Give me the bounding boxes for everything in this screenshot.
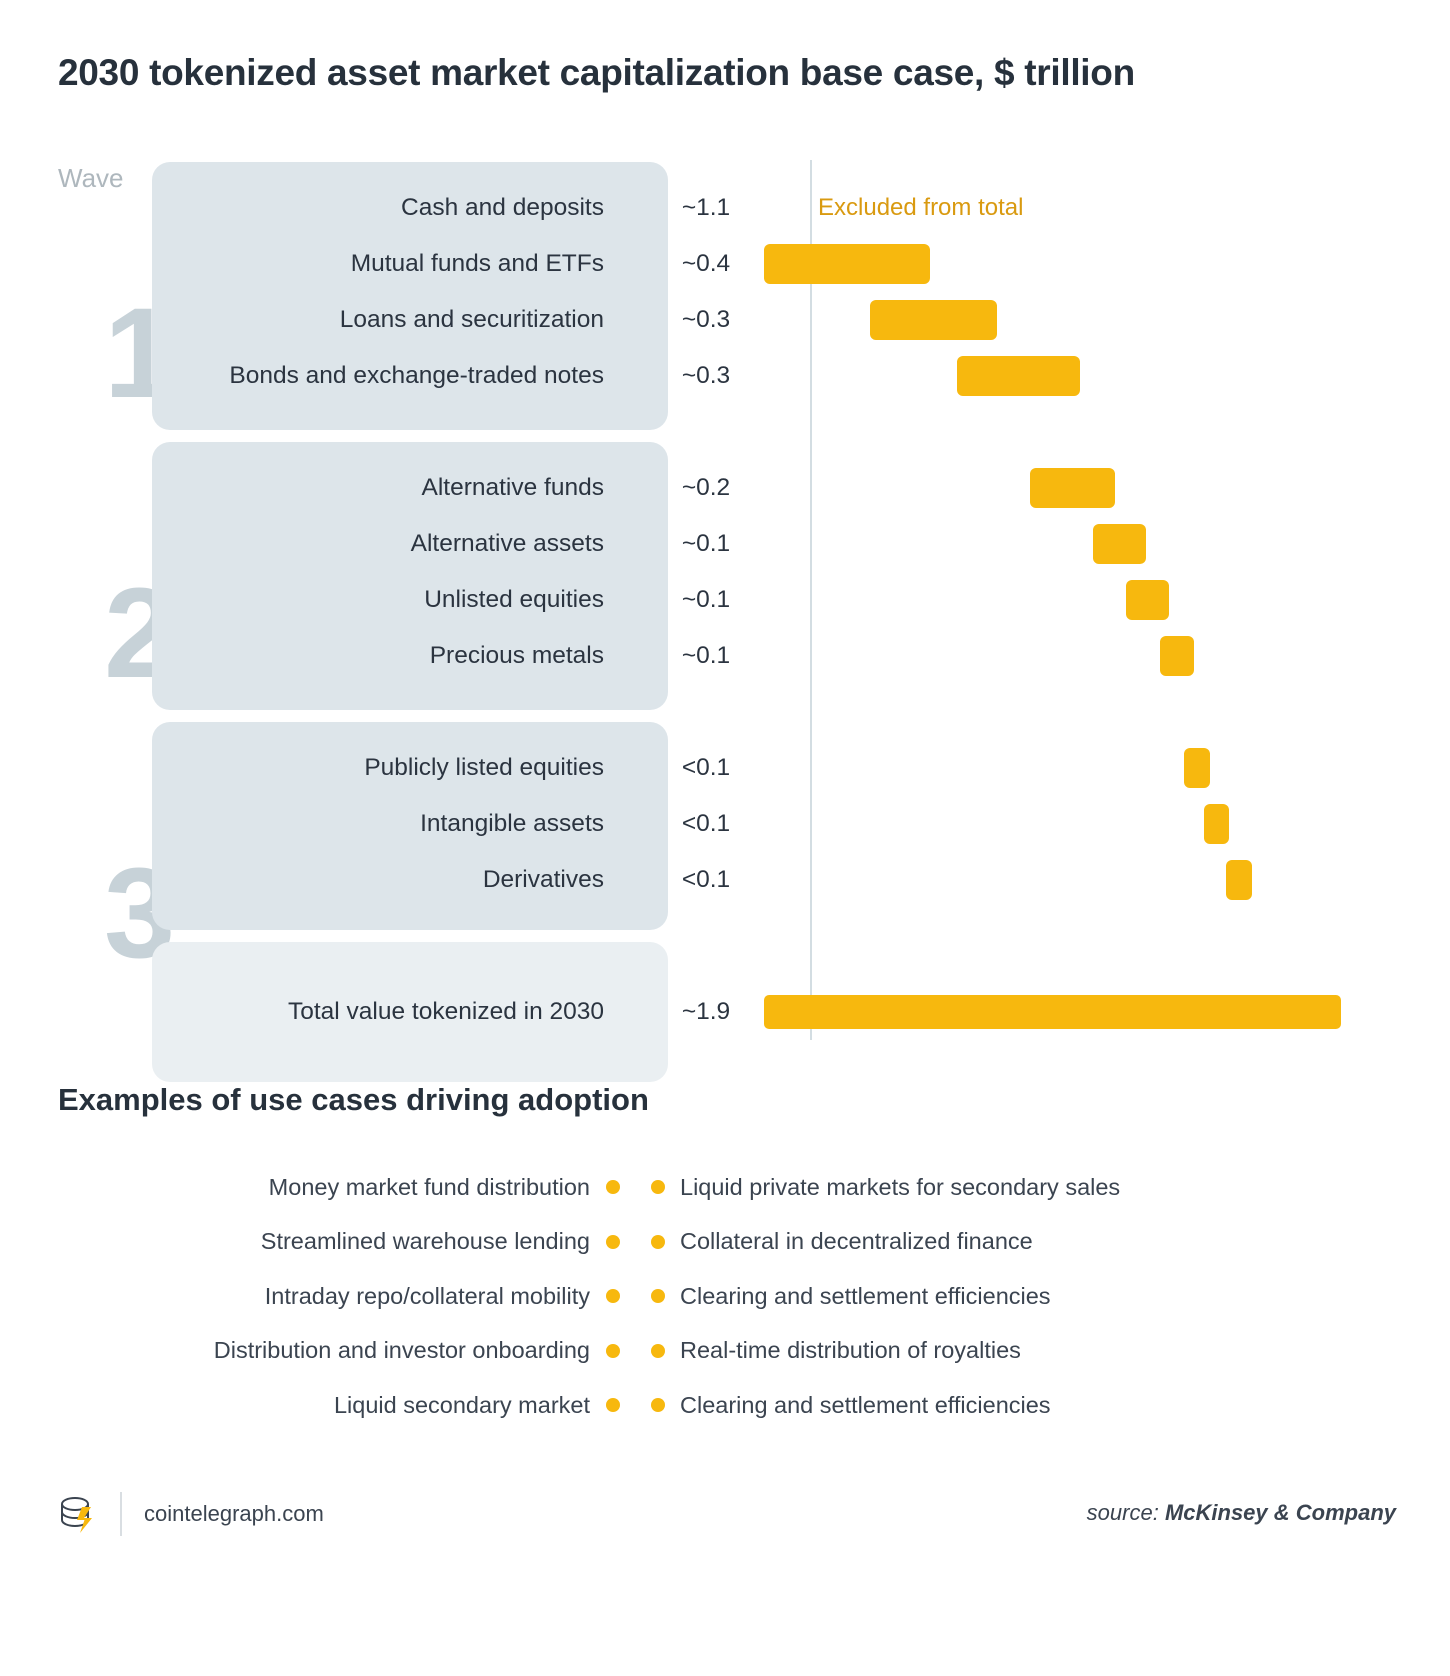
row-value: <0.1 bbox=[648, 754, 764, 782]
row-plot-area bbox=[764, 740, 1450, 796]
row-label: Loans and securitization bbox=[0, 306, 648, 334]
use-case-left-label: Money market fund distribution bbox=[0, 1174, 590, 1201]
excluded-from-total-note: Excluded from total bbox=[818, 194, 1023, 222]
row-plot-area bbox=[764, 852, 1450, 908]
use-cases-heading: Examples of use cases driving adoption bbox=[58, 1082, 649, 1118]
chart-row: Mutual funds and ETFs~0.4 bbox=[0, 236, 1450, 292]
row-label: Precious metals bbox=[0, 642, 648, 670]
bullet-dot-icon bbox=[606, 1235, 620, 1249]
row-value: ~0.1 bbox=[648, 530, 764, 558]
row-label: Intangible assets bbox=[0, 810, 648, 838]
waterfall-chart: Wave 1 2 3 Excluded from total Cash and … bbox=[0, 150, 1450, 1040]
row-value: ~1.9 bbox=[648, 998, 764, 1026]
row-label: Publicly listed equities bbox=[0, 754, 648, 782]
row-value: ~0.1 bbox=[648, 586, 764, 614]
row-plot-area bbox=[764, 628, 1450, 684]
chart-row: Total value tokenized in 2030~1.9 bbox=[0, 984, 1450, 1040]
use-case-right-label: Clearing and settlement efficiencies bbox=[680, 1283, 1450, 1310]
bullet-dot-icon bbox=[606, 1289, 620, 1303]
row-label: Cash and deposits bbox=[0, 194, 648, 222]
row-plot-area bbox=[764, 460, 1450, 516]
row-plot-area bbox=[764, 572, 1450, 628]
row-label: Mutual funds and ETFs bbox=[0, 250, 648, 278]
page-title: 2030 tokenized asset market capitalizati… bbox=[58, 52, 1398, 94]
row-value: ~0.4 bbox=[648, 250, 764, 278]
bullet-dot-icon bbox=[606, 1398, 620, 1412]
bullet-dot-icon bbox=[651, 1289, 665, 1303]
row-value: ~0.3 bbox=[648, 362, 764, 390]
use-case-left-label: Streamlined warehouse lending bbox=[0, 1228, 590, 1255]
use-case-row: Distribution and investor onboardingReal… bbox=[0, 1324, 1450, 1379]
row-label: Total value tokenized in 2030 bbox=[0, 998, 648, 1026]
row-plot-area bbox=[764, 292, 1450, 348]
chart-row: Alternative assets~0.1 bbox=[0, 516, 1450, 572]
chart-row: Derivatives<0.1 bbox=[0, 852, 1450, 908]
use-case-row: Money market fund distributionLiquid pri… bbox=[0, 1160, 1450, 1215]
use-case-right-label: Liquid private markets for secondary sal… bbox=[680, 1174, 1450, 1201]
waterfall-bar bbox=[764, 244, 930, 284]
chart-row: Loans and securitization~0.3 bbox=[0, 292, 1450, 348]
use-case-right-dot-cell bbox=[636, 1235, 680, 1249]
row-label: Bonds and exchange-traded notes bbox=[0, 362, 648, 390]
use-case-right-dot-cell bbox=[636, 1344, 680, 1358]
cointelegraph-coin-logo-icon bbox=[58, 1493, 98, 1535]
use-case-row: Streamlined warehouse lendingCollateral … bbox=[0, 1215, 1450, 1270]
row-value: <0.1 bbox=[648, 810, 764, 838]
footer: cointelegraph.com source: McKinsey & Com… bbox=[0, 1470, 1450, 1580]
row-value: ~1.1 bbox=[648, 194, 764, 222]
use-case-left-dot-cell bbox=[590, 1180, 636, 1194]
source-name: McKinsey & Company bbox=[1165, 1500, 1396, 1525]
waterfall-bar bbox=[764, 995, 1341, 1029]
infographic-page: 2030 tokenized asset market capitalizati… bbox=[0, 0, 1450, 1676]
use-case-right-dot-cell bbox=[636, 1398, 680, 1412]
use-case-left-label: Intraday repo/collateral mobility bbox=[0, 1283, 590, 1310]
use-case-left-dot-cell bbox=[590, 1344, 636, 1358]
source-credit: source: McKinsey & Company bbox=[1087, 1500, 1396, 1526]
use-case-right-label: Real-time distribution of royalties bbox=[680, 1337, 1450, 1364]
row-label: Alternative funds bbox=[0, 474, 648, 502]
use-case-right-label: Clearing and settlement efficiencies bbox=[680, 1392, 1450, 1419]
waterfall-bar bbox=[957, 356, 1080, 396]
waterfall-bar bbox=[1160, 636, 1194, 676]
use-case-right-dot-cell bbox=[636, 1180, 680, 1194]
bullet-dot-icon bbox=[651, 1235, 665, 1249]
use-case-row: Liquid secondary marketClearing and sett… bbox=[0, 1378, 1450, 1433]
use-case-row: Intraday repo/collateral mobilityClearin… bbox=[0, 1269, 1450, 1324]
row-plot-area bbox=[764, 984, 1450, 1040]
waterfall-bar bbox=[1226, 860, 1252, 900]
row-label: Unlisted equities bbox=[0, 586, 648, 614]
use-case-left-label: Liquid secondary market bbox=[0, 1392, 590, 1419]
bullet-dot-icon bbox=[606, 1344, 620, 1358]
site-name: cointelegraph.com bbox=[144, 1501, 324, 1527]
chart-row: Bonds and exchange-traded notes~0.3 bbox=[0, 348, 1450, 404]
source-prefix: source: bbox=[1087, 1500, 1165, 1525]
row-value: ~0.3 bbox=[648, 306, 764, 334]
chart-row: Cash and deposits~1.1 bbox=[0, 180, 1450, 236]
row-value: ~0.1 bbox=[648, 642, 764, 670]
footer-brand: cointelegraph.com bbox=[58, 1492, 324, 1536]
use-case-right-label: Collateral in decentralized finance bbox=[680, 1228, 1450, 1255]
waterfall-bar bbox=[1126, 580, 1169, 620]
use-case-right-dot-cell bbox=[636, 1289, 680, 1303]
bullet-dot-icon bbox=[651, 1398, 665, 1412]
use-case-left-label: Distribution and investor onboarding bbox=[0, 1337, 590, 1364]
use-case-left-dot-cell bbox=[590, 1235, 636, 1249]
footer-divider bbox=[120, 1492, 122, 1536]
row-label: Alternative assets bbox=[0, 530, 648, 558]
chart-row: Unlisted equities~0.1 bbox=[0, 572, 1450, 628]
row-value: <0.1 bbox=[648, 866, 764, 894]
row-plot-area bbox=[764, 516, 1450, 572]
row-label: Derivatives bbox=[0, 866, 648, 894]
use-case-left-dot-cell bbox=[590, 1398, 636, 1412]
row-plot-area bbox=[764, 796, 1450, 852]
bullet-dot-icon bbox=[651, 1344, 665, 1358]
use-cases-list: Money market fund distributionLiquid pri… bbox=[0, 1160, 1450, 1433]
waterfall-bar bbox=[1184, 748, 1210, 788]
chart-row: Alternative funds~0.2 bbox=[0, 460, 1450, 516]
waterfall-bar bbox=[1030, 468, 1115, 508]
waterfall-bar bbox=[1204, 804, 1229, 844]
use-case-left-dot-cell bbox=[590, 1289, 636, 1303]
chart-row: Publicly listed equities<0.1 bbox=[0, 740, 1450, 796]
bullet-dot-icon bbox=[606, 1180, 620, 1194]
waterfall-bar bbox=[1093, 524, 1146, 564]
row-plot-area bbox=[764, 348, 1450, 404]
waterfall-bar bbox=[870, 300, 997, 340]
chart-row: Intangible assets<0.1 bbox=[0, 796, 1450, 852]
row-value: ~0.2 bbox=[648, 474, 764, 502]
bullet-dot-icon bbox=[651, 1180, 665, 1194]
row-plot-area bbox=[764, 236, 1450, 292]
chart-row: Precious metals~0.1 bbox=[0, 628, 1450, 684]
